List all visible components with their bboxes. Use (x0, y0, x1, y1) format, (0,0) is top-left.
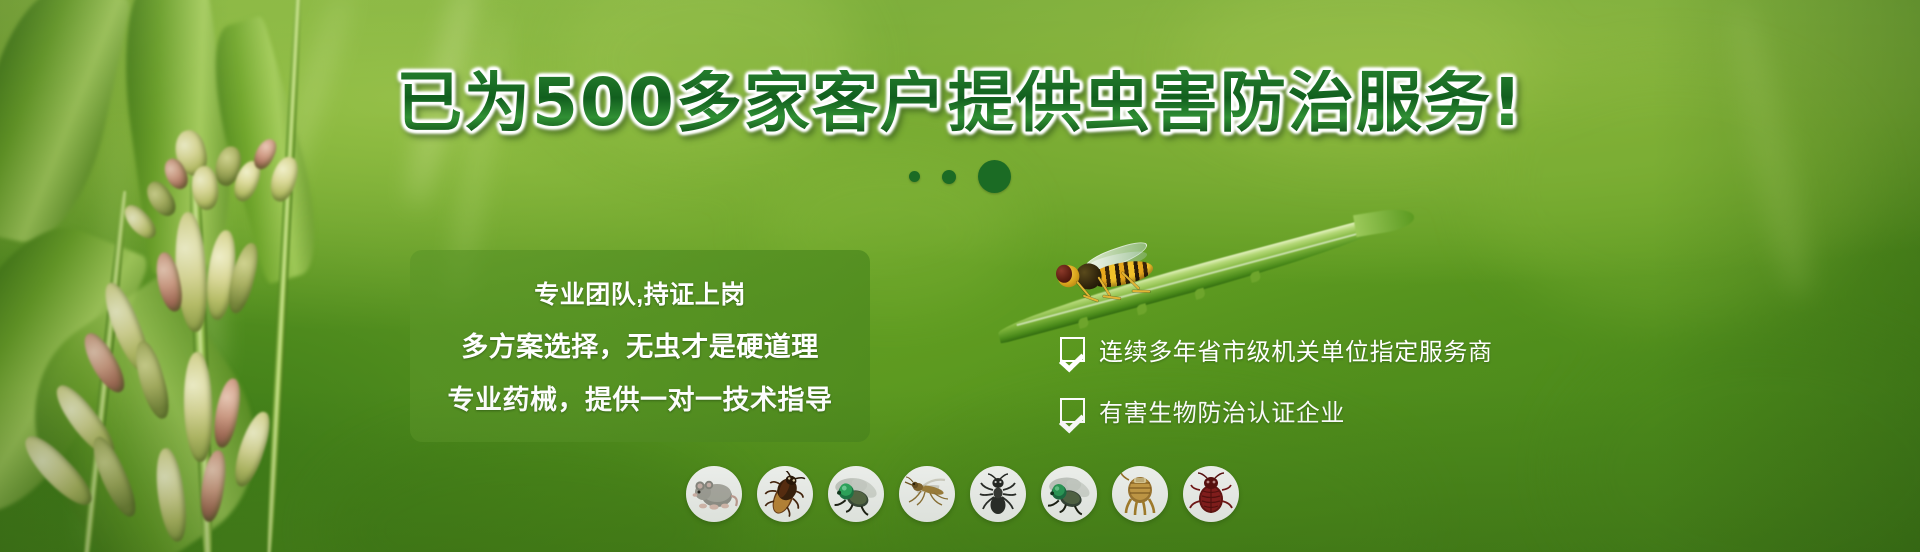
ant-icon[interactable] (970, 466, 1026, 522)
flea-icon[interactable] (1112, 466, 1168, 522)
rodent-icon[interactable] (686, 466, 742, 522)
feature-line-1: 专业团队,持证上岗 (534, 275, 745, 311)
promo-banner: 已为500多家客户提供虫害防治服务! 专业团队,持证上岗 多方案选择，无虫才是硬… (0, 0, 1920, 552)
checkbox-checked-icon (1060, 398, 1085, 423)
checklist-label: 连续多年省市级机关单位指定服务商 (1099, 332, 1493, 367)
decorative-dots (0, 160, 1920, 193)
dot-small-icon (909, 171, 920, 182)
banner-headline: 已为500多家客户提供虫害防治服务! (0, 70, 1920, 136)
dot-large-icon (978, 160, 1011, 193)
pest-icon-row (686, 466, 1239, 522)
mosquito-icon[interactable] (899, 466, 955, 522)
checklist-label: 有害生物防治认证企业 (1099, 393, 1345, 428)
feature-line-3: 专业药械，提供一对一技术指导 (448, 378, 833, 417)
cockroach-icon[interactable] (757, 466, 813, 522)
list-item: 有害生物防治认证企业 (1060, 393, 1493, 428)
feature-line-2: 多方案选择，无虫才是硬道理 (461, 325, 819, 364)
housefly-icon[interactable] (1041, 466, 1097, 522)
credential-checklist: 连续多年省市级机关单位指定服务商 有害生物防治认证企业 (1060, 332, 1493, 428)
blowfly-icon[interactable] (828, 466, 884, 522)
dot-medium-icon (942, 170, 956, 184)
bedbug-icon[interactable] (1183, 466, 1239, 522)
list-item: 连续多年省市级机关单位指定服务商 (1060, 332, 1493, 367)
feature-panel: 专业团队,持证上岗 多方案选择，无虫才是硬道理 专业药械，提供一对一技术指导 (410, 250, 870, 442)
checkbox-checked-icon (1060, 337, 1085, 362)
